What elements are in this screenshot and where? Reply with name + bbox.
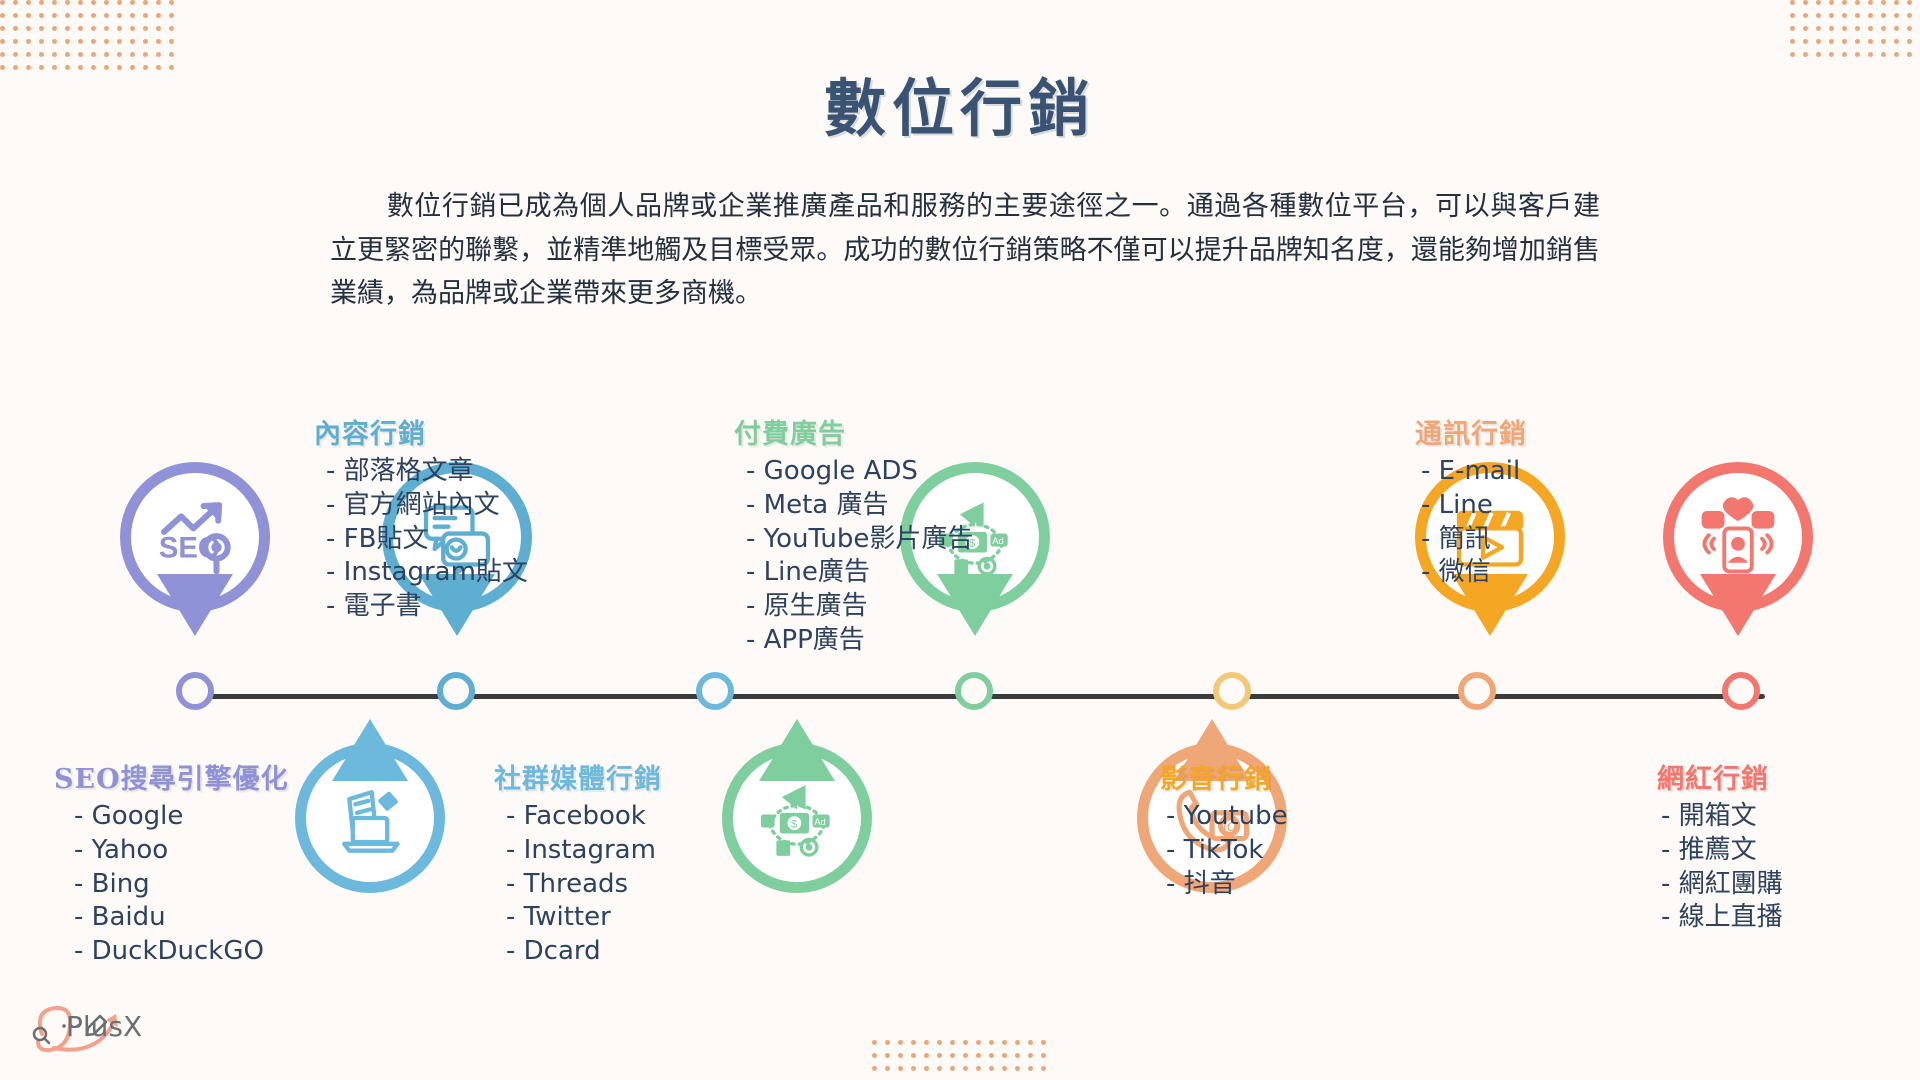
list-item: - 微信: [1421, 556, 1655, 590]
timeline-node-messaging[interactable]: [1458, 672, 1496, 710]
channel-title-paid: 付費廣告: [734, 412, 1040, 451]
list-item: - Instagram: [506, 834, 780, 868]
infographic-canvas: 數位行銷 數位行銷已成為個人品牌或企業推廣產品和服務的主要途徑之一。通過各種數位…: [0, 0, 1920, 1080]
list-item: - DuckDuckGO: [74, 935, 328, 969]
list-item: - E-mail: [1421, 455, 1655, 489]
intro-paragraph: 數位行銷已成為個人品牌或企業推廣產品和服務的主要途徑之一。通過各種數位平台，可以…: [330, 185, 1600, 316]
channel-title-influencer: 網紅行銷: [1657, 757, 1895, 796]
list-item: - TikTok: [1166, 834, 1400, 868]
pin-seo[interactable]: SEO: [120, 462, 270, 637]
list-item: - Line廣告: [746, 556, 1040, 590]
list-item: - 部落格文章: [326, 455, 580, 489]
list-item: - FB貼文: [326, 523, 580, 557]
channel-block-influencer: 網紅行銷 - 開箱文- 推薦文- 網紅團購- 線上直播: [1635, 757, 1895, 935]
timeline-node-seo[interactable]: [176, 672, 214, 710]
plusx-logo[interactable]: PlusX: [20, 990, 170, 1060]
channel-list-social: - Facebook- Instagram- Threads- Twitter-…: [480, 800, 780, 969]
list-item: - 網紅團購: [1661, 868, 1895, 902]
list-item: - 原生廣告: [746, 590, 1040, 624]
page-title: 數位行銷: [0, 58, 1920, 148]
pin-influencer[interactable]: [1663, 462, 1813, 637]
channel-block-seo: SEO搜尋引擎優化 - Google- Yahoo- Bing- Baidu- …: [48, 757, 328, 969]
list-item: - Meta 廣告: [746, 489, 1040, 523]
timeline-node-video[interactable]: [1213, 672, 1251, 710]
list-item: - 開箱文: [1661, 800, 1895, 834]
channel-title-social: 社群媒體行銷: [494, 757, 780, 796]
phone-heart-chat-icon: [1663, 462, 1813, 612]
channel-list-influencer: - 開箱文- 推薦文- 網紅團購- 線上直播: [1635, 800, 1895, 935]
list-item: - Yahoo: [74, 834, 328, 868]
plusx-logo-text: PlusX: [66, 1010, 142, 1043]
timeline-node-content[interactable]: [437, 672, 475, 710]
svg-text:Ad: Ad: [814, 817, 826, 828]
svg-text:$: $: [791, 818, 798, 830]
timeline-node-paid[interactable]: [955, 672, 993, 710]
list-item: - Baidu: [74, 901, 328, 935]
channel-block-paid: 付費廣告 - Google ADS- Meta 廣告- YouTube影片廣告-…: [720, 412, 1040, 658]
list-item: - Dcard: [506, 935, 780, 969]
list-item: - APP廣告: [746, 624, 1040, 658]
channel-list-video: - Youtube- TikTok- 抖音: [1140, 800, 1400, 901]
channel-title-seo: SEO搜尋引擎優化: [54, 757, 328, 796]
list-item: - 線上直播: [1661, 901, 1895, 935]
dot-pattern-bottom: [872, 1040, 1072, 1080]
timeline-node-influencer[interactable]: [1722, 672, 1760, 710]
list-item: - Youtube: [1166, 800, 1400, 834]
channel-block-social: 社群媒體行銷 - Facebook- Instagram- Threads- T…: [480, 757, 780, 969]
channel-block-messaging: 通訊行銷 - E-mail- Line- 簡訊- 微信: [1395, 412, 1655, 590]
list-item: - 官方網站內文: [326, 489, 580, 523]
channel-list-messaging: - E-mail- Line- 簡訊- 微信: [1395, 455, 1655, 590]
seo-magnifier-icon: SEO: [120, 462, 270, 612]
channel-title-video: 影音行銷: [1160, 757, 1400, 796]
channel-title-messaging: 通訊行銷: [1415, 412, 1655, 451]
list-item: - Instagram貼文: [326, 556, 580, 590]
list-item: - Bing: [74, 868, 328, 902]
channel-block-video: 影音行銷 - Youtube- TikTok- 抖音: [1140, 757, 1400, 901]
channel-list-seo: - Google- Yahoo- Bing- Baidu- DuckDuckGO: [48, 800, 328, 969]
list-item: - Line: [1421, 489, 1655, 523]
list-item: - 電子書: [326, 590, 580, 624]
list-item: - 推薦文: [1661, 834, 1895, 868]
channel-title-content: 內容行銷: [314, 412, 580, 451]
list-item: - Threads: [506, 868, 780, 902]
list-item: - 簡訊: [1421, 523, 1655, 557]
list-item: - Facebook: [506, 800, 780, 834]
list-item: - Google ADS: [746, 455, 1040, 489]
list-item: - 抖音: [1166, 868, 1400, 902]
list-item: - YouTube影片廣告: [746, 523, 1040, 557]
list-item: - Twitter: [506, 901, 780, 935]
channel-list-content: - 部落格文章- 官方網站內文- FB貼文- Instagram貼文- 電子書: [300, 455, 580, 624]
channel-list-paid: - Google ADS- Meta 廣告- YouTube影片廣告- Line…: [720, 455, 1040, 658]
timeline-node-social[interactable]: [696, 672, 734, 710]
list-item: - Google: [74, 800, 328, 834]
channel-block-content: 內容行銷 - 部落格文章- 官方網站內文- FB貼文- Instagram貼文-…: [300, 412, 580, 624]
